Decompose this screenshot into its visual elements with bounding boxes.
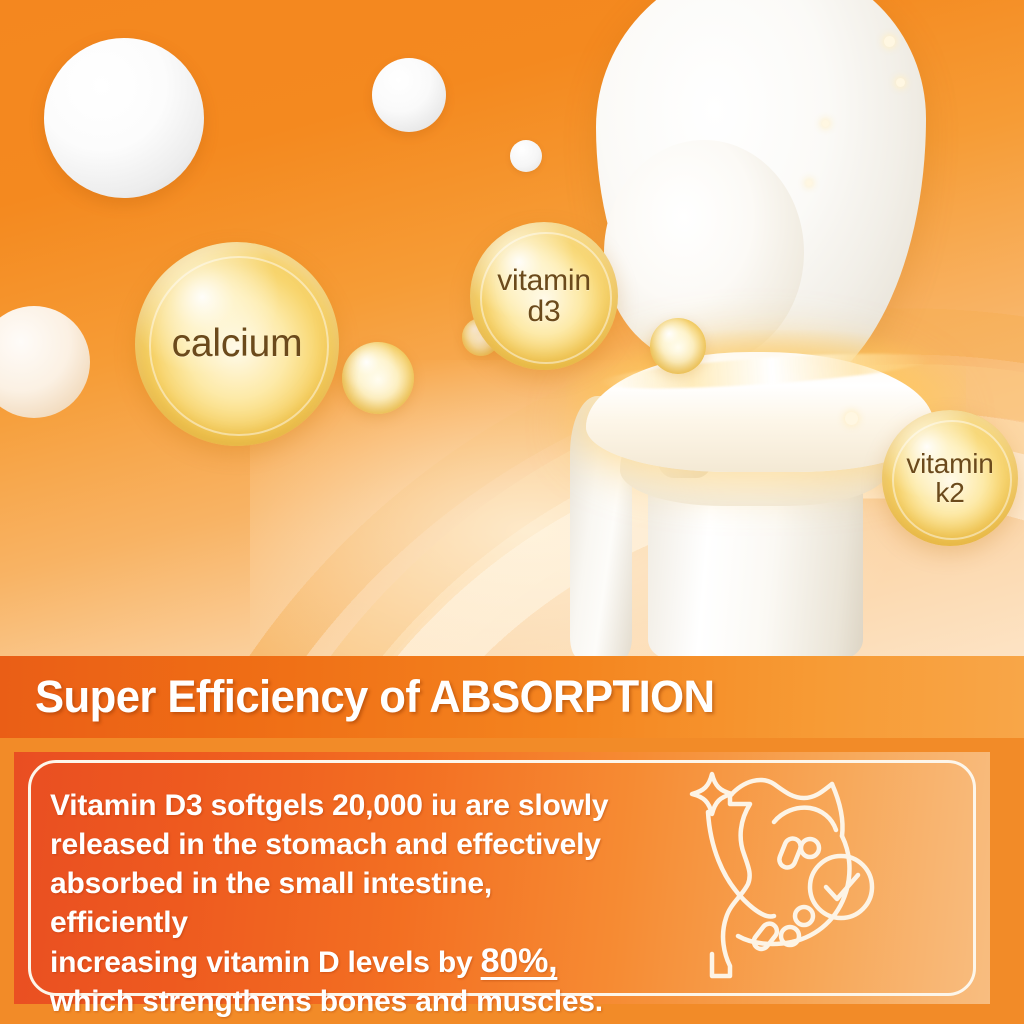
hero-section: calcium vitamin d3 vitamin k2 [0, 0, 1024, 656]
pill-icon [795, 907, 813, 925]
pearl-sphere-edge [0, 306, 90, 418]
description-text: Vitamin D3 softgels 20,000 iu are slowly… [50, 786, 630, 1021]
description-line-4: increasing vitamin D levels by [50, 946, 481, 979]
sparkle-dot [822, 120, 829, 127]
bubble-label-line2: d3 [528, 295, 561, 328]
headline-banner: Super Efficiency of ABSORPTION [0, 656, 1024, 738]
sparkle-dot [806, 180, 812, 186]
check-icon [826, 875, 858, 899]
description-panel: Vitamin D3 softgels 20,000 iu are slowly… [14, 752, 990, 1004]
description-line-5: which strengthens bones and muscles. [50, 985, 603, 1018]
pearl-sphere-medium [372, 58, 446, 132]
ingredient-bubble-calcium: calcium [135, 242, 339, 446]
mini-droplet [342, 342, 414, 414]
pearl-sphere-large [44, 38, 204, 198]
sparkle-dot [896, 78, 905, 87]
bubble-label-line1: vitamin [906, 448, 993, 479]
ingredient-bubble-vitamin-k2-label: vitamin k2 [906, 449, 993, 507]
bubble-label-line2: k2 [935, 477, 964, 508]
description-line-2: released in the stomach and effectively [50, 828, 601, 861]
stomach-digestion-icon [686, 768, 986, 990]
pill-icon [801, 839, 819, 857]
bubble-label-line1: vitamin [497, 264, 591, 297]
ingredient-bubble-vitamin-k2: vitamin k2 [882, 410, 1018, 546]
mini-droplet [650, 318, 706, 374]
capsule-icon [751, 921, 780, 952]
sparkle-icon [692, 774, 732, 814]
pearl-sphere-small [510, 140, 542, 172]
ingredient-bubble-vitamin-d3-label: vitamin d3 [497, 265, 591, 327]
banner-title: Super Efficiency of ABSORPTION [35, 671, 714, 723]
sparkle-dot [845, 412, 858, 425]
product-infographic: calcium vitamin d3 vitamin k2 Super Effi… [0, 0, 1024, 1024]
description-line-3: absorbed in the small intestine, efficie… [50, 867, 492, 939]
sparkle-dot [884, 36, 895, 47]
ingredient-bubble-vitamin-d3: vitamin d3 [470, 222, 618, 370]
description-line-1: Vitamin D3 softgels 20,000 iu are slowly [50, 789, 608, 822]
capsule-icon [777, 836, 803, 870]
highlight-percentage: 80%, [481, 942, 558, 980]
ingredient-bubble-calcium-label: calcium [172, 324, 303, 365]
bubble-label-line1: calcium [172, 322, 303, 365]
